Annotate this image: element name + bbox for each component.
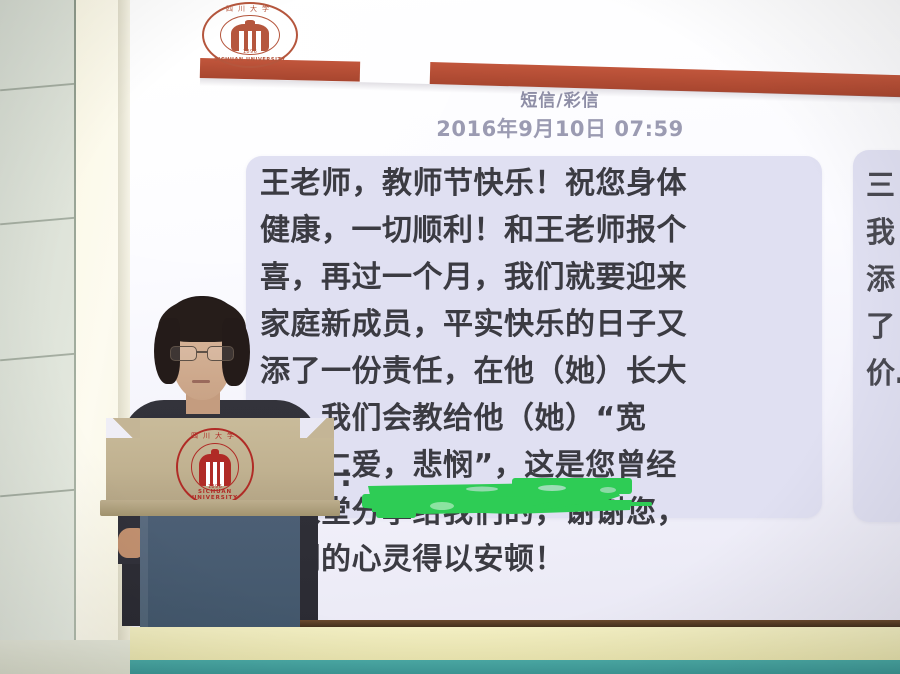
podium-notch-right-fill [300, 418, 334, 438]
wall-panels [0, 0, 76, 674]
presentation-photo: 四川大学 1896 SICHUAN UNIVERSITY 短信/彩信 2016年… [0, 0, 900, 674]
podium-emblem-en-label: SICHUAN UNIVERSITY [176, 489, 254, 501]
podium-emblem-cn-label: 四川大学 [176, 433, 254, 440]
message-meta: 短信/彩信 2016年9月10日 07:59 [300, 86, 820, 143]
message-timestamp: 2016年9月10日 07:59 [300, 113, 820, 143]
wall-baseboard-band [130, 627, 900, 660]
message-body-text-secondary: 三我添了价…… [866, 162, 900, 397]
speaker-mouth [192, 380, 210, 383]
emblem-cn-label: 四川大学 [202, 6, 298, 13]
podium-emblem-icon: 四川大学 1896 SICHUAN UNIVERSITY [176, 428, 254, 506]
message-type-label: 短信/彩信 [300, 86, 820, 111]
emblem-en-label: SICHUAN UNIVERSITY [202, 57, 298, 63]
podium-notch-left-fill [106, 418, 140, 438]
floor-teal-band [130, 660, 900, 674]
emblem-year-label: 1896 [202, 49, 298, 55]
message-trailing-colon: : [340, 462, 352, 492]
podium-lip [100, 500, 340, 516]
sichuan-university-emblem-icon: 四川大学 1896 SICHUAN UNIVERSITY [202, 2, 298, 68]
screen-bottom-trim [300, 620, 900, 627]
speaker-glasses-icon [170, 346, 234, 360]
wall-baseboard-left [0, 640, 130, 674]
